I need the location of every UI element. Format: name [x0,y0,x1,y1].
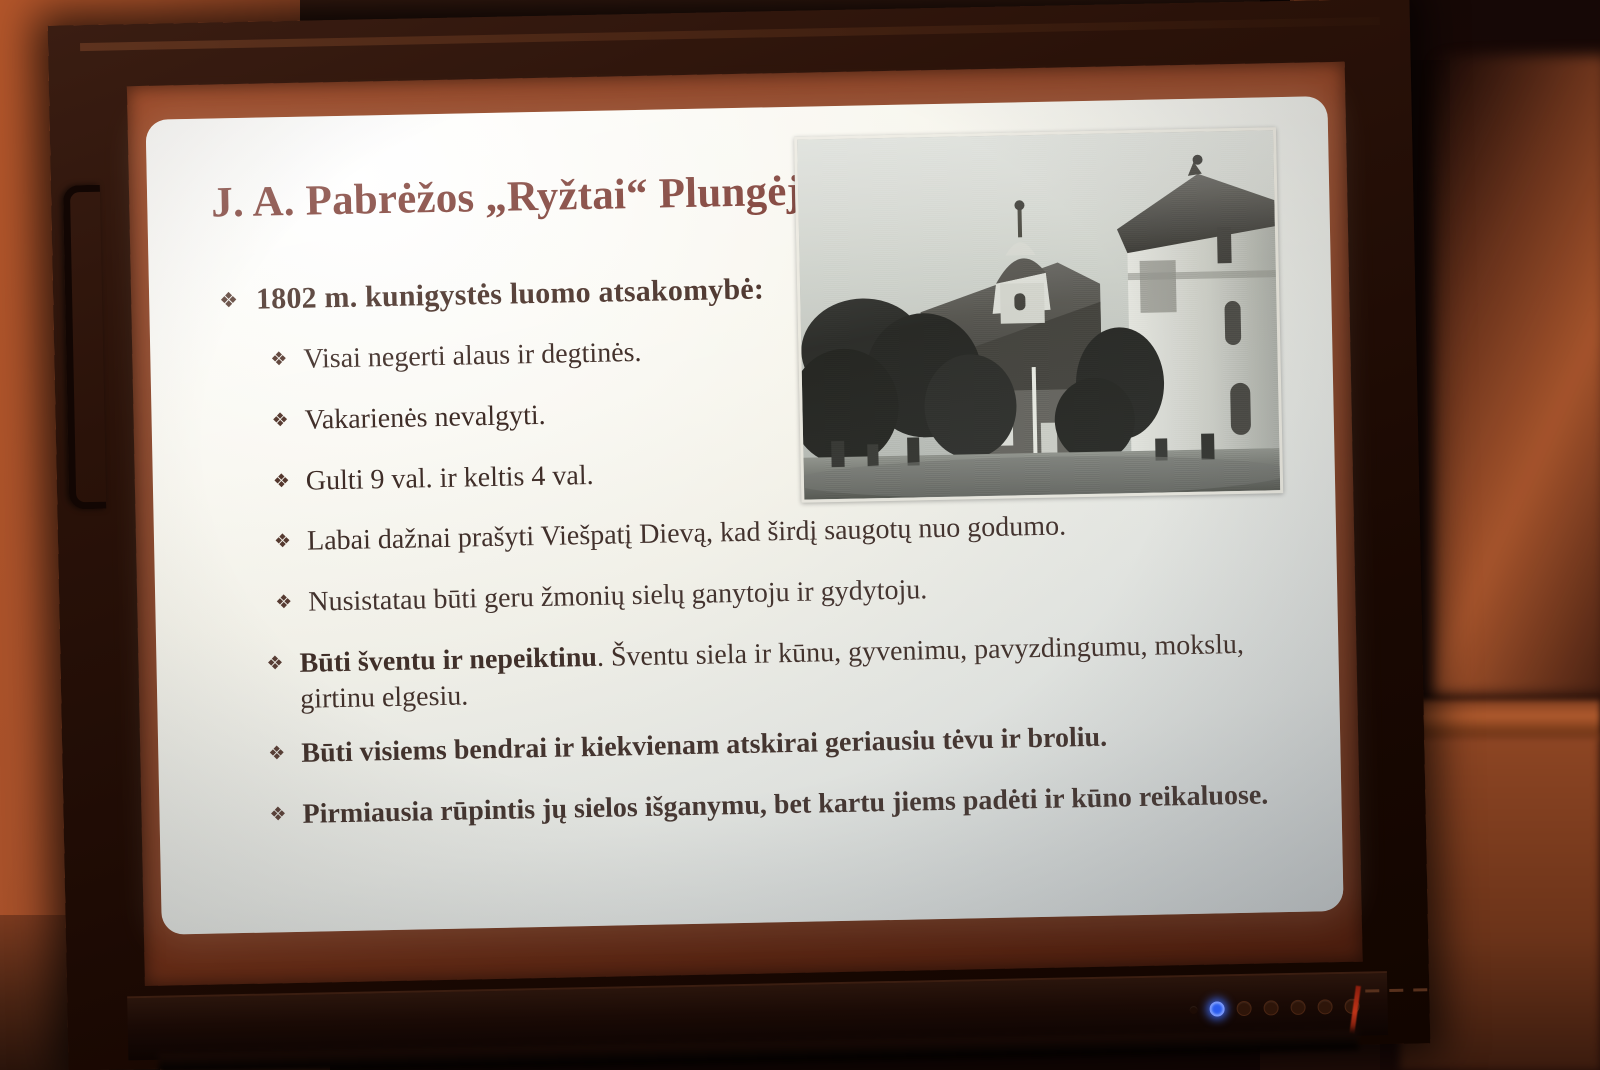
diamond-bullet-icon: ❖ [275,593,292,612]
room-scene: J. A. Pabrėžos „Ryžtai“ Plungėje [0,0,1600,1070]
diamond-bullet-icon: ❖ [266,654,283,673]
wall-right-lower-wall [1400,735,1600,1070]
list-item: ❖ Pirmiausia rūpintis jų sielos išganymu… [269,777,1280,833]
diamond-bullet-icon: ❖ [270,350,287,369]
list-item: ❖ Būti visiems bendrai ir kiekvienam ats… [268,716,1279,772]
control-button-4[interactable] [1317,999,1332,1014]
display-screen[interactable]: J. A. Pabrėžos „Ryžtai“ Plungėje [146,96,1344,935]
diamond-bullet-icon: ❖ [268,744,285,763]
list-item-label: Būti visiems bendrai ir kiekvienam atski… [301,716,1278,771]
list-item-label: Nusistatau būti geru žmonių sielų ganyto… [308,566,1257,621]
presentation-slide: J. A. Pabrėžos „Ryžtai“ Plungėje [146,96,1344,935]
diamond-bullet-icon: ❖ [219,290,238,311]
wall-right-chair-rail [1420,700,1600,740]
display-carry-handle[interactable] [63,185,106,510]
status-dot [1190,1005,1198,1013]
church-photograph [794,127,1283,503]
wall-right-drapery [1432,55,1600,695]
list-item-label: Pirmiausia rūpintis jų sielos išganymu, … [302,777,1279,832]
diamond-bullet-icon: ❖ [269,805,286,824]
control-button-row[interactable] [1189,999,1359,1017]
list-item-emphasis: Būti šventu ir nepeiktinu [299,642,597,679]
control-button-1[interactable] [1236,1001,1251,1016]
interactive-display-unit[interactable]: J. A. Pabrėžos „Ryžtai“ Plungėje [48,0,1431,1070]
control-button-2[interactable] [1263,1000,1278,1015]
power-led-icon [1209,1001,1224,1016]
list-item: ❖ Būti šventu ir nepeiktinu. Šventu siel… [266,626,1277,718]
diamond-bullet-icon: ❖ [273,472,290,491]
list-item: ❖ Nusistatau būti geru žmonių sielų gany… [275,566,1258,622]
list-item-label: Būti šventu ir nepeiktinu. Šventu siela … [299,626,1277,717]
diamond-bullet-icon: ❖ [274,532,291,551]
church-photo-graphic [797,130,1280,499]
diamond-bullet-icon: ❖ [271,411,288,430]
list-item-label: Labai dažnai prašyti Viešpatį Dievą, kad… [307,505,1256,560]
list-item: ❖ Labai dažnai prašyti Viešpatį Dievą, k… [274,505,1257,561]
control-button-3[interactable] [1290,1000,1305,1015]
